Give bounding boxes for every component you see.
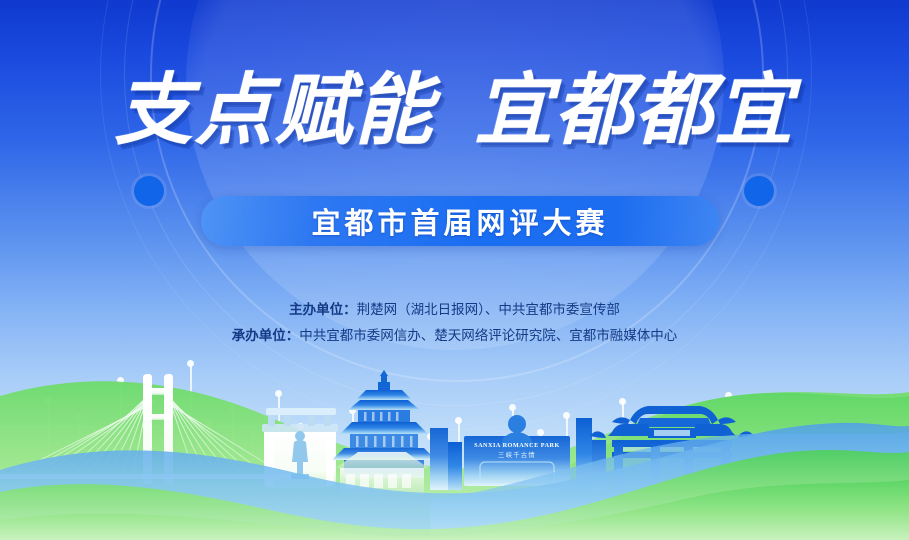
subtitle-pill: 宜都市首届网评大赛: [201, 196, 719, 246]
credit-line-organizer: 主办单位：荆楚网（湖北日报网）、中共宜都市委宣传部: [0, 297, 909, 323]
credit-value-host: 中共宜都市委网信办、楚天网络评论研究院、宜都市融媒体中心: [299, 328, 677, 344]
park-sign-chinese: 三峡千古情: [498, 450, 536, 459]
page-title: 支点赋能宜都都宜: [0, 62, 909, 160]
park-sign-english: SANXIA ROMANCE PARK: [474, 442, 560, 449]
credits-block: 主办单位：荆楚网（湖北日报网）、中共宜都市委宣传部 承办单位：中共宜都市委网信办…: [0, 297, 909, 349]
headline-part-1: 支点赋能: [114, 66, 434, 156]
subtitle-label: 宜都市首届网评大赛: [311, 200, 608, 242]
credit-label-host: 承办单位：: [232, 328, 300, 344]
headline-part-2: 宜都都宜: [475, 66, 795, 156]
credit-line-host: 承办单位：中共宜都市委网信办、楚天网络评论研究院、宜都市融媒体中心: [0, 323, 909, 349]
poster-canvas: SANXIA ROMANCE PARK 三峡千古情: [0, 0, 909, 540]
credit-value-organizer: 荆楚网（湖北日报网）、中共宜都市委宣传部: [357, 302, 620, 318]
credit-label-organizer: 主办单位：: [289, 302, 357, 318]
